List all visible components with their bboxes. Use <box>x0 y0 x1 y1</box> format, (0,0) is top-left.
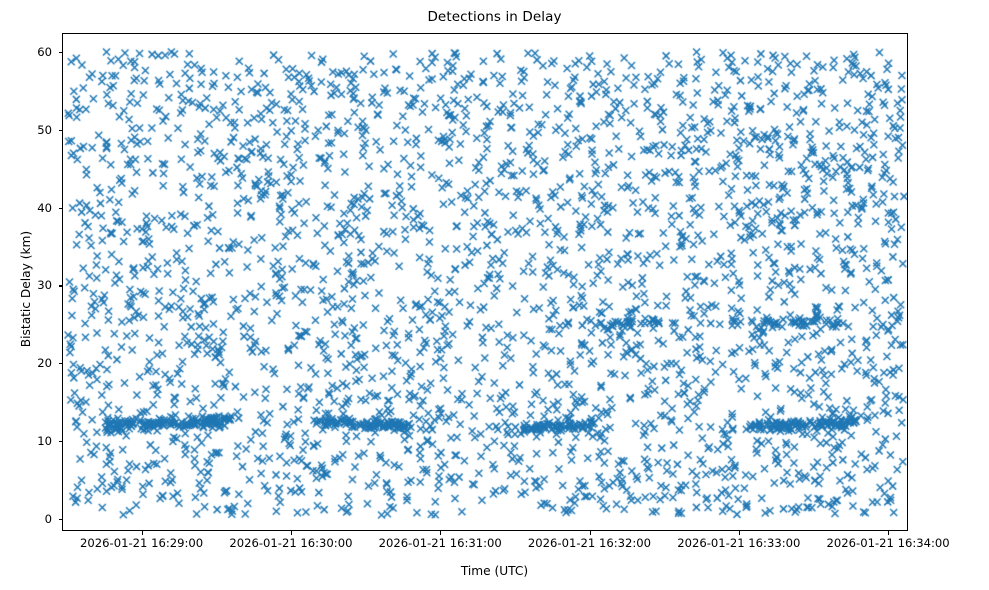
x-axis-tick-label: 2026-01-21 16:29:00 <box>80 536 203 550</box>
x-axis-tick-label: 2026-01-21 16:30:00 <box>229 536 352 550</box>
x-axis-tick-mark <box>739 531 740 535</box>
y-axis-tick-label: 60 <box>8 45 52 59</box>
x-axis-tick-mark <box>291 531 292 535</box>
x-axis-label: Time (UTC) <box>0 564 989 578</box>
x-axis-tick-mark <box>142 531 143 535</box>
y-axis-label: Bistatic Delay (km) <box>19 139 33 439</box>
y-axis-tick-mark <box>59 285 63 286</box>
x-axis-tick-label: 2026-01-21 16:31:00 <box>379 536 502 550</box>
x-axis-tick-label: 2026-01-21 16:33:00 <box>677 536 800 550</box>
y-axis-tick-mark <box>59 441 63 442</box>
plot-axes-area <box>62 33 908 531</box>
scatter-plot-canvas <box>63 34 908 531</box>
page-title: Detections in Delay <box>0 9 989 25</box>
y-axis-tick-mark <box>59 208 63 209</box>
x-axis-tick-mark <box>440 531 441 535</box>
y-axis-tick-mark <box>59 130 63 131</box>
x-axis-tick-label: 2026-01-21 16:34:00 <box>827 536 950 550</box>
y-axis-tick-mark <box>59 52 63 53</box>
y-axis-tick-mark <box>59 519 63 520</box>
x-axis-tick-label: 2026-01-21 16:32:00 <box>528 536 651 550</box>
figure-canvas: Detections in Delay 2026-01-21 16:29:002… <box>0 0 989 590</box>
y-axis-tick-mark <box>59 363 63 364</box>
y-axis-tick-label: 50 <box>8 123 52 137</box>
x-axis-tick-mark <box>590 531 591 535</box>
y-axis-tick-label: 0 <box>8 512 52 526</box>
x-axis-tick-mark <box>888 531 889 535</box>
